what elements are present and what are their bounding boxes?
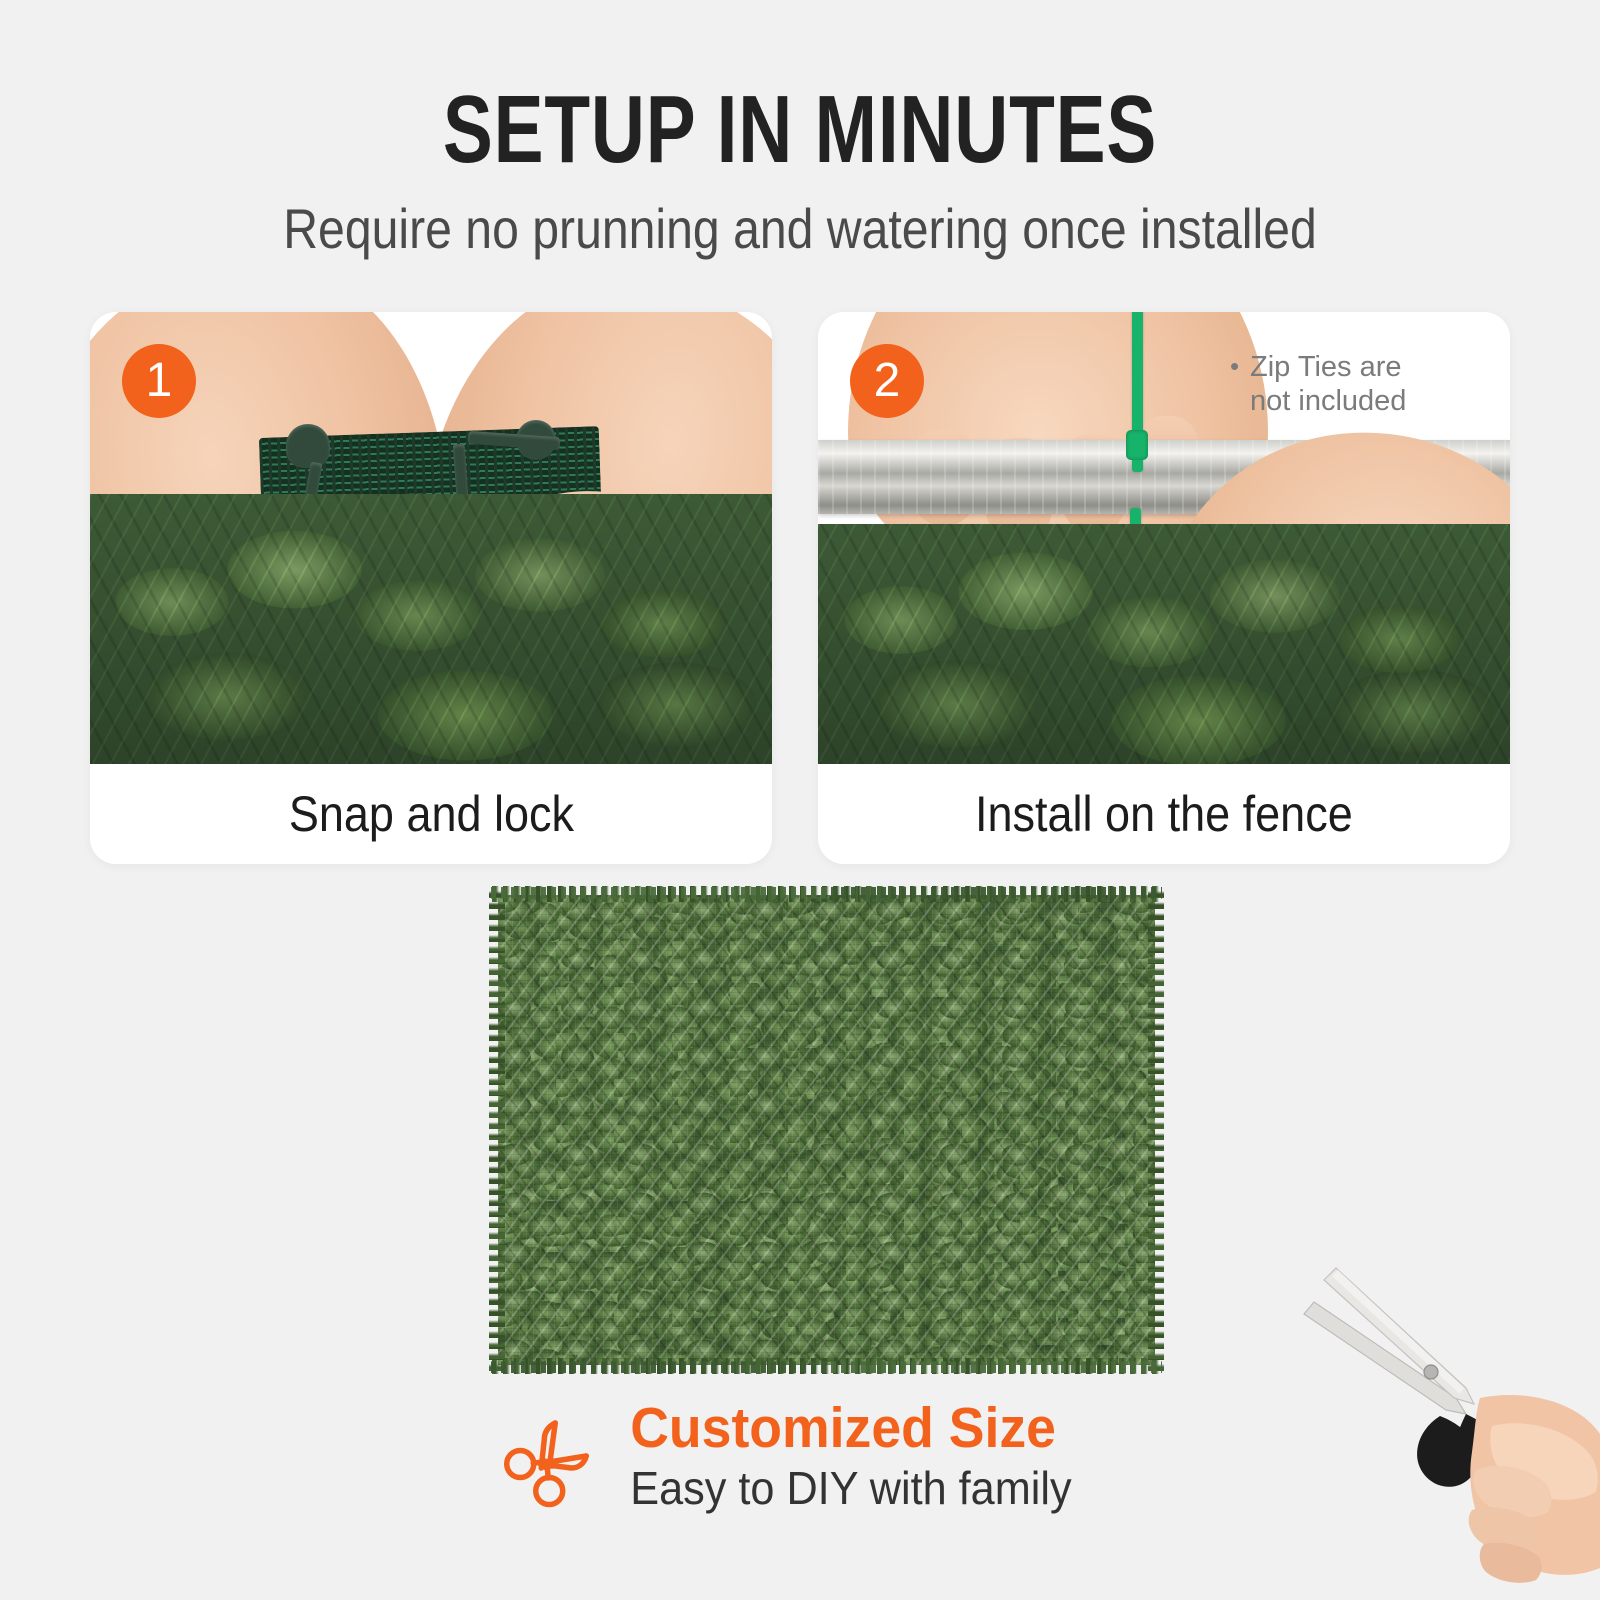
zip-tie-head: [1126, 430, 1148, 460]
scissors-pivot: [1424, 1365, 1438, 1379]
hedge-left-edge: [489, 889, 505, 1371]
hedge-top-edge: [492, 886, 1161, 902]
artificial-ivy-hedge-panel: [498, 895, 1155, 1365]
page-subtitle: Require no prunning and watering once in…: [112, 200, 1488, 259]
zip-ties-note-line-2: not included: [1250, 385, 1406, 417]
step-card-2: 2 • Zip Ties are not included Install on…: [818, 312, 1510, 864]
page-title: SETUP IN MINUTES: [176, 82, 1424, 178]
step-2-caption-text: Install on the fence: [975, 785, 1353, 843]
ivy-leaves-foreground-2: [818, 524, 1510, 764]
ivy-leaves-foreground: [90, 494, 772, 764]
step-1-caption: Snap and lock: [90, 764, 772, 864]
zip-ties-note: • Zip Ties are not included: [1246, 350, 1476, 418]
promo-subline: Easy to DIY with family: [630, 1463, 1071, 1515]
promo-headline: Customized Size: [630, 1398, 1071, 1460]
step-2-badge: 2: [850, 344, 924, 418]
step-2-caption: Install on the fence: [818, 764, 1510, 864]
bullet-icon: •: [1230, 351, 1239, 382]
hedge-bottom-edge: [492, 1358, 1161, 1374]
hedge-right-edge: [1148, 889, 1164, 1371]
scissors-icon: [500, 1404, 604, 1508]
customized-size-promo: Customized Size Easy to DIY with family: [0, 1398, 1600, 1538]
step-1-badge: 1: [122, 344, 196, 418]
step-1-caption-text: Snap and lock: [288, 785, 573, 843]
infographic-canvas: SETUP IN MINUTES Require no prunning and…: [0, 0, 1600, 1600]
zip-ties-note-line-1: Zip Ties are: [1250, 351, 1402, 383]
connector-clip-left: [286, 424, 330, 468]
scissors-blades: [1304, 1268, 1474, 1414]
step-card-1: 1 Snap and lock: [90, 312, 772, 864]
